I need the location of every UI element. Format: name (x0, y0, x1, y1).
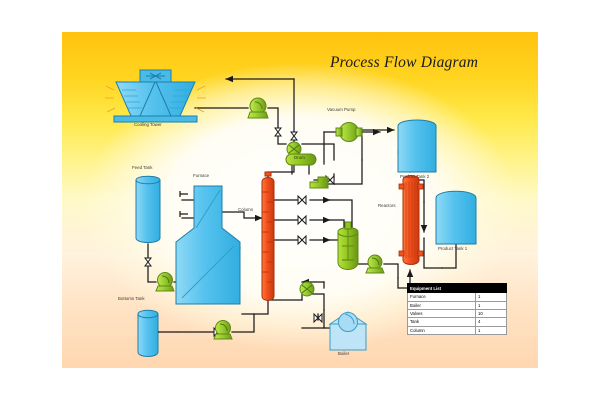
equipment-pump-cooling (248, 98, 268, 118)
label-product-tank-2: Product Tank 2 (400, 175, 429, 179)
label-product-tank-1: Product Tank 1 (438, 247, 467, 251)
equipment-list-table: Equipment List Furnace 1 Boiler 1 Valves… (407, 283, 507, 335)
equipment-column (262, 172, 274, 301)
equipment-product-tank-1 (436, 191, 476, 244)
row-name: Boiler (408, 301, 476, 309)
row-qty: 4 (476, 318, 507, 326)
valve-bowtie (298, 236, 306, 244)
header-qty (476, 284, 507, 293)
label-boiler: Boiler (338, 352, 349, 356)
header-name: Equipment List (408, 284, 476, 293)
diagram-canvas: Process Flow Diagram (62, 32, 538, 368)
row-qty: 1 (476, 293, 507, 301)
equipment-step-block (310, 177, 328, 188)
row-qty: 1 (476, 301, 507, 309)
valve-bowtie (298, 216, 306, 224)
equipment-mixer-pump (366, 255, 384, 273)
label-bottoms-tank: Bottoms Tank (118, 297, 145, 301)
label-vacuum-pump: Vacuum Pump (327, 108, 355, 112)
table-row: Boiler 1 (408, 301, 507, 309)
table-row: Column 1 (408, 326, 507, 334)
row-qty: 1 (476, 326, 507, 334)
valve-bowtie (145, 258, 151, 266)
valve-bowtie (275, 128, 281, 136)
table-row: Valves 10 (408, 310, 507, 318)
valve-bowtie (291, 132, 297, 140)
screenshot-root: Process Flow Diagram (0, 0, 600, 400)
equipment-product-tank-2 (398, 120, 436, 172)
label-reactors: Reactors (378, 204, 396, 208)
row-name: Column (408, 326, 476, 334)
label-column: Column (238, 208, 253, 212)
row-name: Furnace (408, 293, 476, 301)
label-drum: Drum (294, 156, 305, 160)
row-name: Tank (408, 318, 476, 326)
label-furnace: Furnace (193, 174, 209, 178)
equipment-mixer-vessel (338, 222, 358, 270)
equipment-list-header: Equipment List (408, 284, 507, 293)
equipment-vacuum-pump (336, 123, 362, 142)
equipment-bottoms-tank (138, 310, 178, 356)
equipment-cooling-tower (105, 70, 206, 122)
equipment-feed-tank (136, 176, 160, 242)
valve-bowtie (298, 196, 306, 204)
equipment-boiler (330, 312, 366, 350)
equipment-furnace (176, 186, 240, 304)
table-row: Furnace 1 (408, 293, 507, 301)
label-feed-tank: Feed Tank (132, 166, 152, 170)
row-qty: 10 (476, 310, 507, 318)
equipment-bottoms-pump (214, 321, 232, 340)
row-name: Valves (408, 310, 476, 318)
control-valve (300, 282, 314, 296)
equipment-feed-pump (156, 273, 174, 292)
label-cooling-tower: Cooling Tower (134, 123, 162, 127)
equipment-reactors (399, 176, 423, 265)
table-row: Tank 4 (408, 318, 507, 326)
